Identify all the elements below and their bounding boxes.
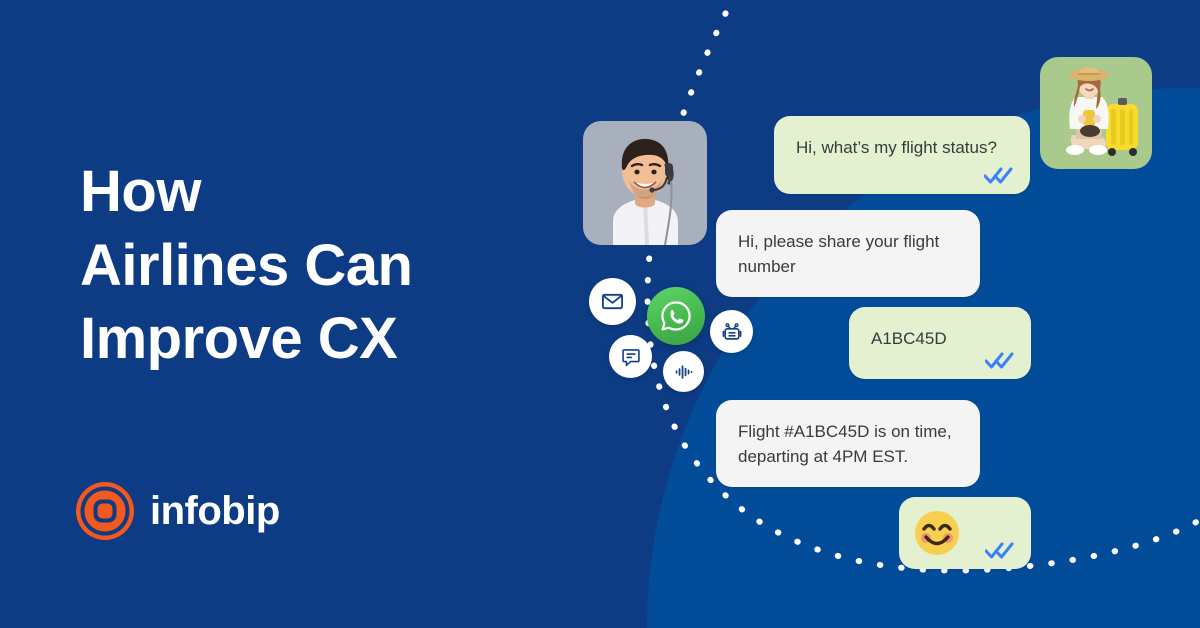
chat-icon: [621, 347, 641, 367]
chat-message-text: A1BC45D: [871, 327, 1009, 352]
marketing-banner: How Airlines Can Improve CX infobip: [0, 0, 1200, 628]
channel-icon-voice[interactable]: [663, 351, 704, 392]
brand-wordmark: infobip: [150, 491, 280, 531]
support-agent-avatar: [583, 121, 707, 245]
page-title: How Airlines Can Improve CX: [80, 155, 550, 376]
chat-message-text: Hi, please share your flight number: [738, 230, 958, 279]
whatsapp-icon: [659, 299, 693, 333]
channel-icon-whatsapp[interactable]: [647, 287, 705, 345]
headline-line-1: How: [80, 155, 550, 229]
brand-logo: infobip: [76, 482, 280, 540]
headline-line-3: Improve CX: [80, 302, 550, 376]
traveller-avatar: [1040, 57, 1152, 169]
support-agent-photo: [583, 121, 707, 245]
email-icon: [601, 290, 624, 313]
double-check-icon: [985, 351, 1015, 369]
voice-icon: [674, 362, 694, 382]
chat-bubble-agent-1: Hi, please share your flight number: [716, 210, 980, 297]
chat-bubble-agent-2: Flight #A1BC45D is on time, departing at…: [716, 400, 980, 487]
smiling-face-with-smiling-eyes-icon: [913, 509, 961, 557]
channel-icon-chat[interactable]: [609, 335, 652, 378]
double-check-icon: [985, 541, 1015, 559]
double-check-icon: [984, 166, 1014, 184]
infobip-target-logo-icon: [76, 482, 134, 540]
channel-icon-email[interactable]: [589, 278, 636, 325]
headline-line-2: Airlines Can: [80, 229, 550, 303]
chat-bubble-customer-2: A1BC45D: [849, 307, 1031, 379]
chat-message-text: Hi, what’s my flight status?: [796, 136, 1008, 161]
chat-bubble-customer-3: [899, 497, 1031, 569]
channel-icon-chatbot[interactable]: [710, 310, 753, 353]
chat-bubble-customer-1: Hi, what’s my flight status?: [774, 116, 1030, 194]
chat-message-text: Flight #A1BC45D is on time, departing at…: [738, 420, 958, 469]
robot-icon: [721, 321, 743, 343]
traveller-photo: [1040, 57, 1152, 169]
